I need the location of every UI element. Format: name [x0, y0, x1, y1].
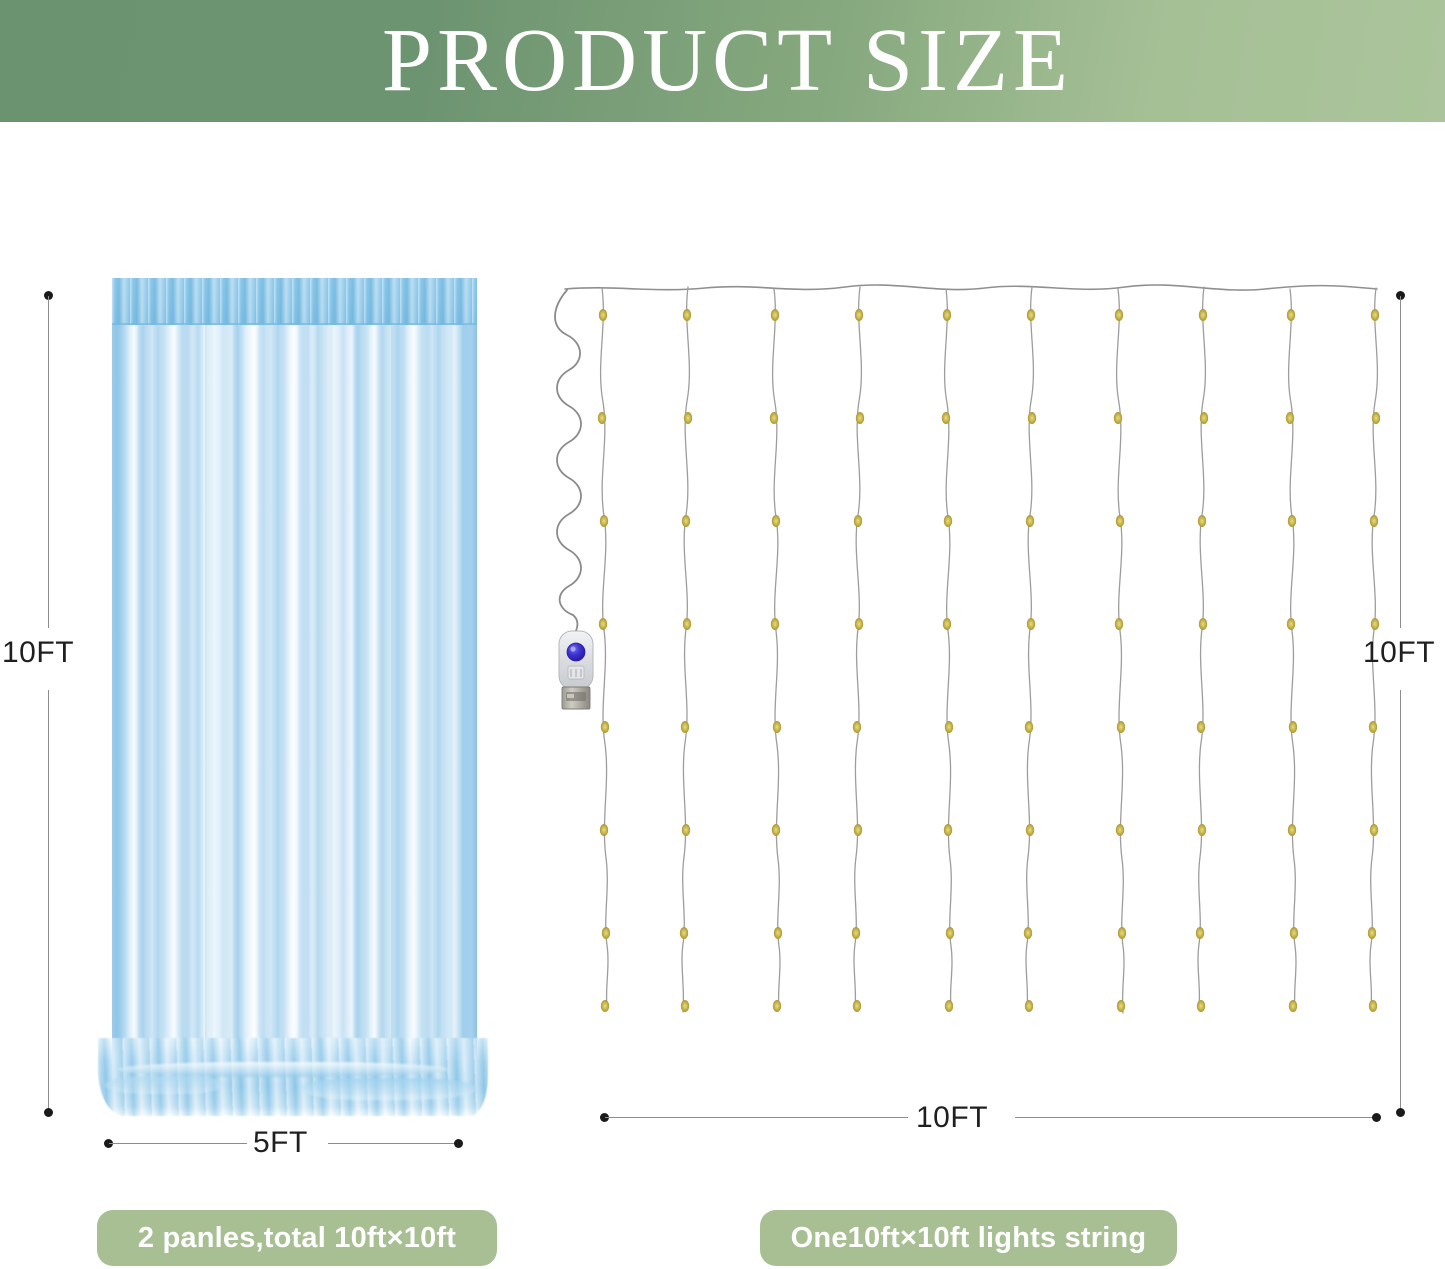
- led-bead: [1370, 515, 1378, 527]
- led-bead: [1288, 824, 1296, 836]
- led-bead: [599, 618, 607, 630]
- lights-caption-pill: One10ft×10ft lights string: [760, 1210, 1177, 1266]
- led-bead: [1288, 515, 1296, 527]
- led-strand: [945, 289, 952, 1005]
- led-bead: [1117, 1000, 1125, 1012]
- led-bead: [1200, 412, 1208, 424]
- led-bead: [774, 927, 782, 939]
- product-size-infographic: PRODUCT SIZE 10FT 5FT: [0, 0, 1445, 1269]
- curtain-product-image: [112, 278, 477, 1116]
- led-bead: [1371, 309, 1379, 321]
- light-string-svg: [545, 275, 1390, 1105]
- led-strand: [601, 288, 608, 1006]
- led-bead: [1289, 721, 1297, 733]
- led-bead: [853, 1000, 861, 1012]
- led-bead-column: [942, 309, 954, 1012]
- led-bead: [1372, 412, 1380, 424]
- led-bead: [1027, 618, 1035, 630]
- lights-width-line-right: [1015, 1117, 1375, 1118]
- led-bead: [1198, 515, 1206, 527]
- usb-button-highlight: [570, 646, 575, 651]
- led-bead: [1026, 515, 1034, 527]
- led-bead: [1024, 927, 1032, 939]
- curtain-width-line-left: [109, 1143, 247, 1144]
- led-bead: [601, 1000, 609, 1012]
- curtain-rod-pocket: [112, 278, 477, 325]
- led-bead: [772, 515, 780, 527]
- led-strand: [682, 287, 689, 1012]
- led-bead: [942, 412, 950, 424]
- led-bead: [853, 721, 861, 733]
- led-bead: [1116, 515, 1124, 527]
- led-bead-column: [770, 309, 782, 1012]
- lights-height-dot-bottom: [1396, 1108, 1405, 1117]
- led-bead: [680, 927, 688, 939]
- curtain-height-label: 10FT: [2, 636, 74, 670]
- curtain-width-dot-right: [454, 1139, 463, 1148]
- led-bead: [681, 1000, 689, 1012]
- led-bead-column: [1196, 309, 1208, 1012]
- usb-power-button: [567, 643, 585, 661]
- light-string-product-image: [545, 275, 1390, 1105]
- led-bead: [770, 412, 778, 424]
- led-bead: [1199, 618, 1207, 630]
- lights-width-line-left: [605, 1117, 908, 1118]
- led-bead: [944, 824, 952, 836]
- led-bead: [771, 309, 779, 321]
- led-bead: [683, 309, 691, 321]
- led-bead: [599, 309, 607, 321]
- curtain-caption-pill: 2 panles,total 10ft×10ft: [97, 1210, 497, 1266]
- led-strand: [1117, 289, 1124, 1013]
- led-bead: [1290, 927, 1298, 939]
- curtain-height-line-lower: [48, 690, 49, 1112]
- curtain-height-dot-bottom: [44, 1108, 53, 1117]
- led-bead: [854, 824, 862, 836]
- led-bead: [856, 412, 864, 424]
- led-bead: [682, 515, 690, 527]
- led-bead: [683, 618, 691, 630]
- led-beads: [598, 309, 1380, 1012]
- led-bead-column: [680, 309, 692, 1012]
- led-bead: [771, 618, 779, 630]
- lights-height-line-lower: [1400, 690, 1401, 1112]
- header-banner: PRODUCT SIZE: [0, 0, 1445, 122]
- page-title: PRODUCT SIZE: [0, 16, 1445, 106]
- led-bead: [600, 515, 608, 527]
- led-bead-column: [1286, 309, 1298, 1012]
- led-bead: [1369, 721, 1377, 733]
- led-bead: [684, 412, 692, 424]
- led-bead: [1286, 412, 1294, 424]
- led-bead: [773, 1000, 781, 1012]
- led-bead: [1026, 824, 1034, 836]
- led-bead: [1197, 1000, 1205, 1012]
- led-bead: [943, 309, 951, 321]
- led-bead: [681, 721, 689, 733]
- led-bead-column: [1114, 309, 1126, 1012]
- lights-width-dot-right: [1372, 1113, 1381, 1122]
- led-bead: [1289, 1000, 1297, 1012]
- led-bead: [1287, 309, 1295, 321]
- led-bead: [1115, 618, 1123, 630]
- led-strand: [854, 287, 861, 1010]
- led-bead: [1287, 618, 1295, 630]
- curtain-hem-fold: [302, 1078, 477, 1100]
- curtain-width-label: 5FT: [253, 1126, 308, 1160]
- lights-height-line-upper: [1400, 296, 1401, 628]
- led-bead: [1025, 721, 1033, 733]
- curtain-hem-fold: [104, 1076, 224, 1094]
- led-strand: [1289, 289, 1296, 1011]
- led-bead: [854, 515, 862, 527]
- led-bead: [855, 309, 863, 321]
- led-bead-column: [1024, 309, 1036, 1012]
- led-bead: [1196, 927, 1204, 939]
- led-bead: [772, 824, 780, 836]
- led-strands: [601, 287, 1378, 1013]
- led-bead: [1117, 721, 1125, 733]
- power-cord-tail: [573, 615, 577, 633]
- led-bead: [1025, 1000, 1033, 1012]
- led-bead: [601, 721, 609, 733]
- lights-height-label: 10FT: [1363, 636, 1435, 670]
- led-bead: [682, 824, 690, 836]
- led-bead: [1198, 824, 1206, 836]
- led-strand: [773, 289, 780, 1009]
- led-bead-column: [852, 309, 864, 1012]
- curtain-fold-shading: [112, 278, 477, 1098]
- top-carrier-wire: [565, 285, 1377, 290]
- led-bead: [945, 1000, 953, 1012]
- led-bead: [1027, 309, 1035, 321]
- led-bead: [1116, 824, 1124, 836]
- led-bead: [945, 721, 953, 733]
- led-bead: [1370, 824, 1378, 836]
- lights-width-label: 10FT: [916, 1101, 988, 1135]
- led-bead: [1199, 309, 1207, 321]
- curtain-width-line-right: [328, 1143, 456, 1144]
- led-bead: [943, 618, 951, 630]
- usb-connector: [559, 631, 593, 709]
- led-bead: [946, 927, 954, 939]
- led-bead: [602, 927, 610, 939]
- led-bead: [1369, 1000, 1377, 1012]
- led-bead: [1118, 927, 1126, 939]
- curtain-hem-fold: [118, 1062, 448, 1077]
- led-bead: [1368, 927, 1376, 939]
- led-bead: [1371, 618, 1379, 630]
- led-bead: [1115, 309, 1123, 321]
- led-bead: [600, 824, 608, 836]
- curtain-height-line-upper: [48, 296, 49, 628]
- led-strand: [1198, 287, 1205, 1006]
- led-bead: [1114, 412, 1122, 424]
- led-bead-column: [598, 309, 610, 1012]
- led-bead: [1197, 721, 1205, 733]
- curtain-rod-pocket-seam: [112, 323, 477, 325]
- led-bead: [1028, 412, 1036, 424]
- led-bead: [944, 515, 952, 527]
- led-bead: [773, 721, 781, 733]
- power-cord-coil: [555, 290, 581, 615]
- led-bead: [855, 618, 863, 630]
- led-bead: [598, 412, 606, 424]
- led-bead: [852, 927, 860, 939]
- led-strand: [1026, 287, 1033, 1008]
